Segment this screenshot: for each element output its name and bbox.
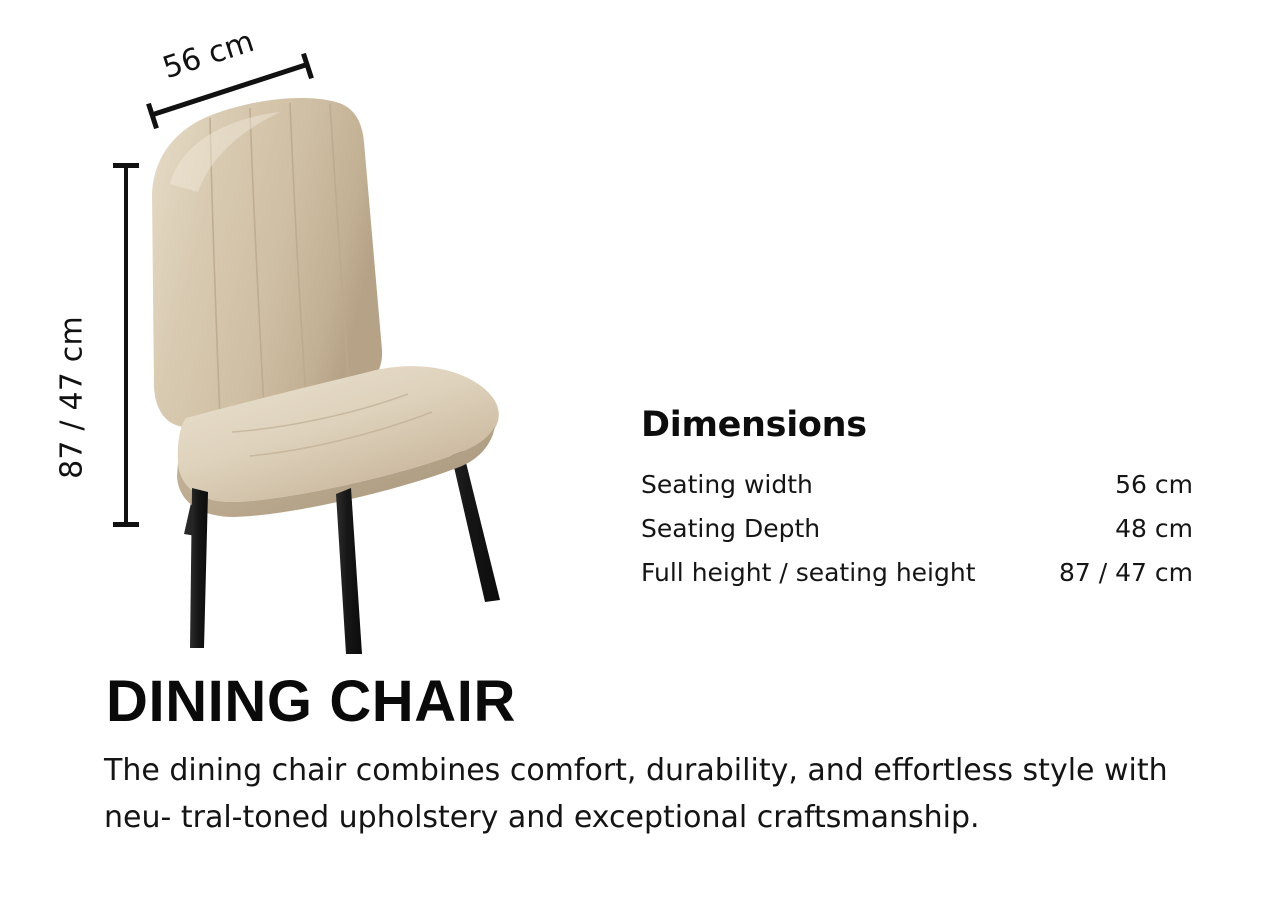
dimensions-heading: Dimensions xyxy=(641,406,1193,445)
width-dimension-group: 56 cm xyxy=(150,66,310,122)
dimensions-table: Seating width 56 cm Seating Depth 48 cm … xyxy=(641,463,1193,595)
spec-value: 87 / 47 cm xyxy=(1035,551,1193,595)
dining-chair-photo xyxy=(140,88,570,663)
table-row: Seating Depth 48 cm xyxy=(641,507,1193,551)
spec-label: Seating Depth xyxy=(641,507,1035,551)
page-title: DINING CHAIR xyxy=(106,670,516,734)
spec-sheet-page: 87 / 47 cm 56 cm Dimensions Seating widt… xyxy=(0,0,1280,914)
height-dimension-line xyxy=(124,163,128,527)
product-figure: 87 / 47 cm 56 cm xyxy=(0,0,620,670)
width-dimension-label: 56 cm xyxy=(159,24,259,86)
table-row: Seating width 56 cm xyxy=(641,463,1193,507)
spec-label: Full height / seating height xyxy=(641,551,1035,595)
product-description: The dining chair combines comfort, durab… xyxy=(104,748,1209,841)
height-dimension-label: 87 / 47 cm xyxy=(55,288,90,508)
height-dimension-cap-bottom xyxy=(113,522,139,527)
spec-label: Seating width xyxy=(641,463,1035,507)
dimensions-block: Dimensions Seating width 56 cm Seating D… xyxy=(641,406,1193,595)
spec-value: 48 cm xyxy=(1035,507,1193,551)
chair-leg-front-right xyxy=(336,488,362,654)
chair-leg-front-left xyxy=(190,488,208,648)
table-row: Full height / seating height 87 / 47 cm xyxy=(641,551,1193,595)
spec-value: 56 cm xyxy=(1035,463,1193,507)
